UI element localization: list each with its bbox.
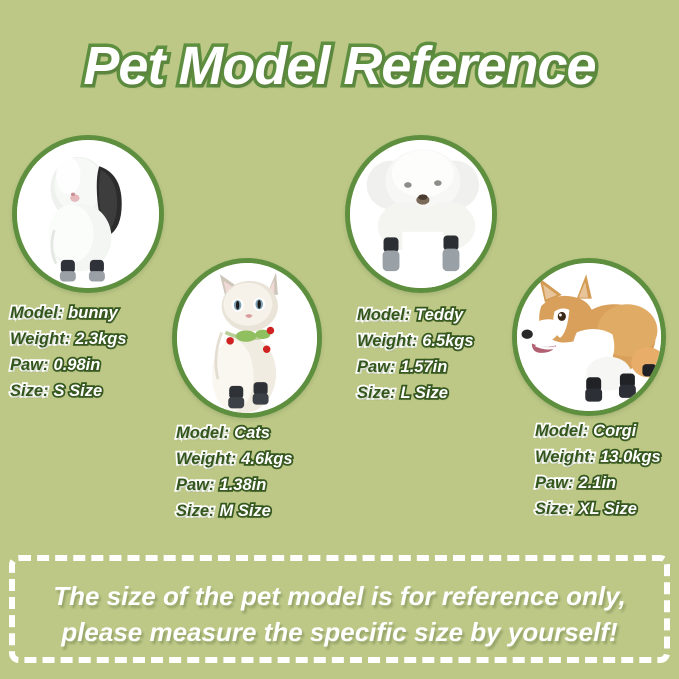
label-size: Size: [10, 382, 49, 400]
label-paw: Paw: [176, 476, 215, 494]
info-row-weight: Weight:6.5kgs [357, 328, 474, 354]
label-weight: Weight: [176, 450, 236, 468]
pet-info-corgi: Model:Corgi Weight:13.0kgs Paw:2.1in Siz… [535, 418, 661, 522]
infographic-canvas: Pet Model Reference [0, 0, 679, 679]
label-weight: Weight: [10, 330, 70, 348]
label-model: Model: [176, 424, 229, 442]
label-paw: Paw: [535, 474, 574, 492]
label-model: Model: [535, 422, 588, 440]
value-paw: 1.38in [220, 476, 267, 494]
info-row-weight: Weight:4.6kgs [176, 446, 293, 472]
info-row-model: Model:bunny [10, 300, 127, 326]
value-model: Cats [234, 424, 270, 442]
label-paw: Paw: [357, 358, 396, 376]
pet-photo-cats [172, 258, 322, 418]
label-model: Model: [357, 306, 410, 324]
cats-photo-image [177, 263, 317, 413]
info-row-paw: Paw:2.1in [535, 470, 661, 496]
label-weight: Weight: [535, 448, 595, 466]
pet-info-bunny: Model:bunny Weight:2.3kgs Paw:0.98in Siz… [10, 300, 127, 404]
label-size: Size: [535, 500, 574, 518]
pet-photo-teddy [345, 135, 497, 293]
value-weight: 4.6kgs [241, 450, 292, 468]
pet-info-teddy: Model:Teddy Weight:6.5kgs Paw:1.57in Siz… [357, 302, 474, 406]
teddy-photo-image [350, 140, 492, 288]
info-row-size: Size:S Size [10, 378, 127, 404]
info-row-paw: Paw:0.98in [10, 352, 127, 378]
page-title: Pet Model Reference [0, 38, 679, 95]
value-paw: 0.98in [54, 356, 101, 374]
value-weight: 6.5kgs [422, 332, 473, 350]
value-model: Corgi [593, 422, 636, 440]
label-weight: Weight: [357, 332, 417, 350]
info-row-weight: Weight:2.3kgs [10, 326, 127, 352]
disclaimer-line-1: The size of the pet model is for referen… [53, 578, 626, 614]
disclaimer-text: The size of the pet model is for referen… [9, 560, 670, 668]
pet-info-cats: Model:Cats Weight:4.6kgs Paw:1.38in Size… [176, 420, 293, 524]
value-size: S Size [54, 382, 103, 400]
value-weight: 13.0kgs [600, 448, 661, 466]
disclaimer-line-2: please measure the specific size by your… [61, 614, 617, 650]
value-paw: 2.1in [579, 474, 617, 492]
info-row-model: Model:Teddy [357, 302, 474, 328]
value-model: bunny [68, 304, 118, 322]
value-size: L Size [401, 384, 448, 402]
value-size: M Size [220, 502, 271, 520]
info-row-paw: Paw:1.38in [176, 472, 293, 498]
label-size: Size: [176, 502, 215, 520]
info-row-model: Model:Cats [176, 420, 293, 446]
info-row-size: Size:XL Size [535, 496, 661, 522]
corgi-photo-image [517, 263, 661, 411]
bunny-photo-image [17, 140, 159, 288]
info-row-paw: Paw:1.57in [357, 354, 474, 380]
info-row-size: Size:M Size [176, 498, 293, 524]
label-model: Model: [10, 304, 63, 322]
value-size: XL Size [579, 500, 637, 518]
info-row-model: Model:Corgi [535, 418, 661, 444]
value-model: Teddy [415, 306, 463, 324]
label-size: Size: [357, 384, 396, 402]
pet-photo-corgi [512, 258, 666, 416]
info-row-weight: Weight:13.0kgs [535, 444, 661, 470]
info-row-size: Size:L Size [357, 380, 474, 406]
value-paw: 1.57in [401, 358, 448, 376]
pet-photo-bunny [12, 135, 164, 293]
label-paw: Paw: [10, 356, 49, 374]
value-weight: 2.3kgs [75, 330, 126, 348]
